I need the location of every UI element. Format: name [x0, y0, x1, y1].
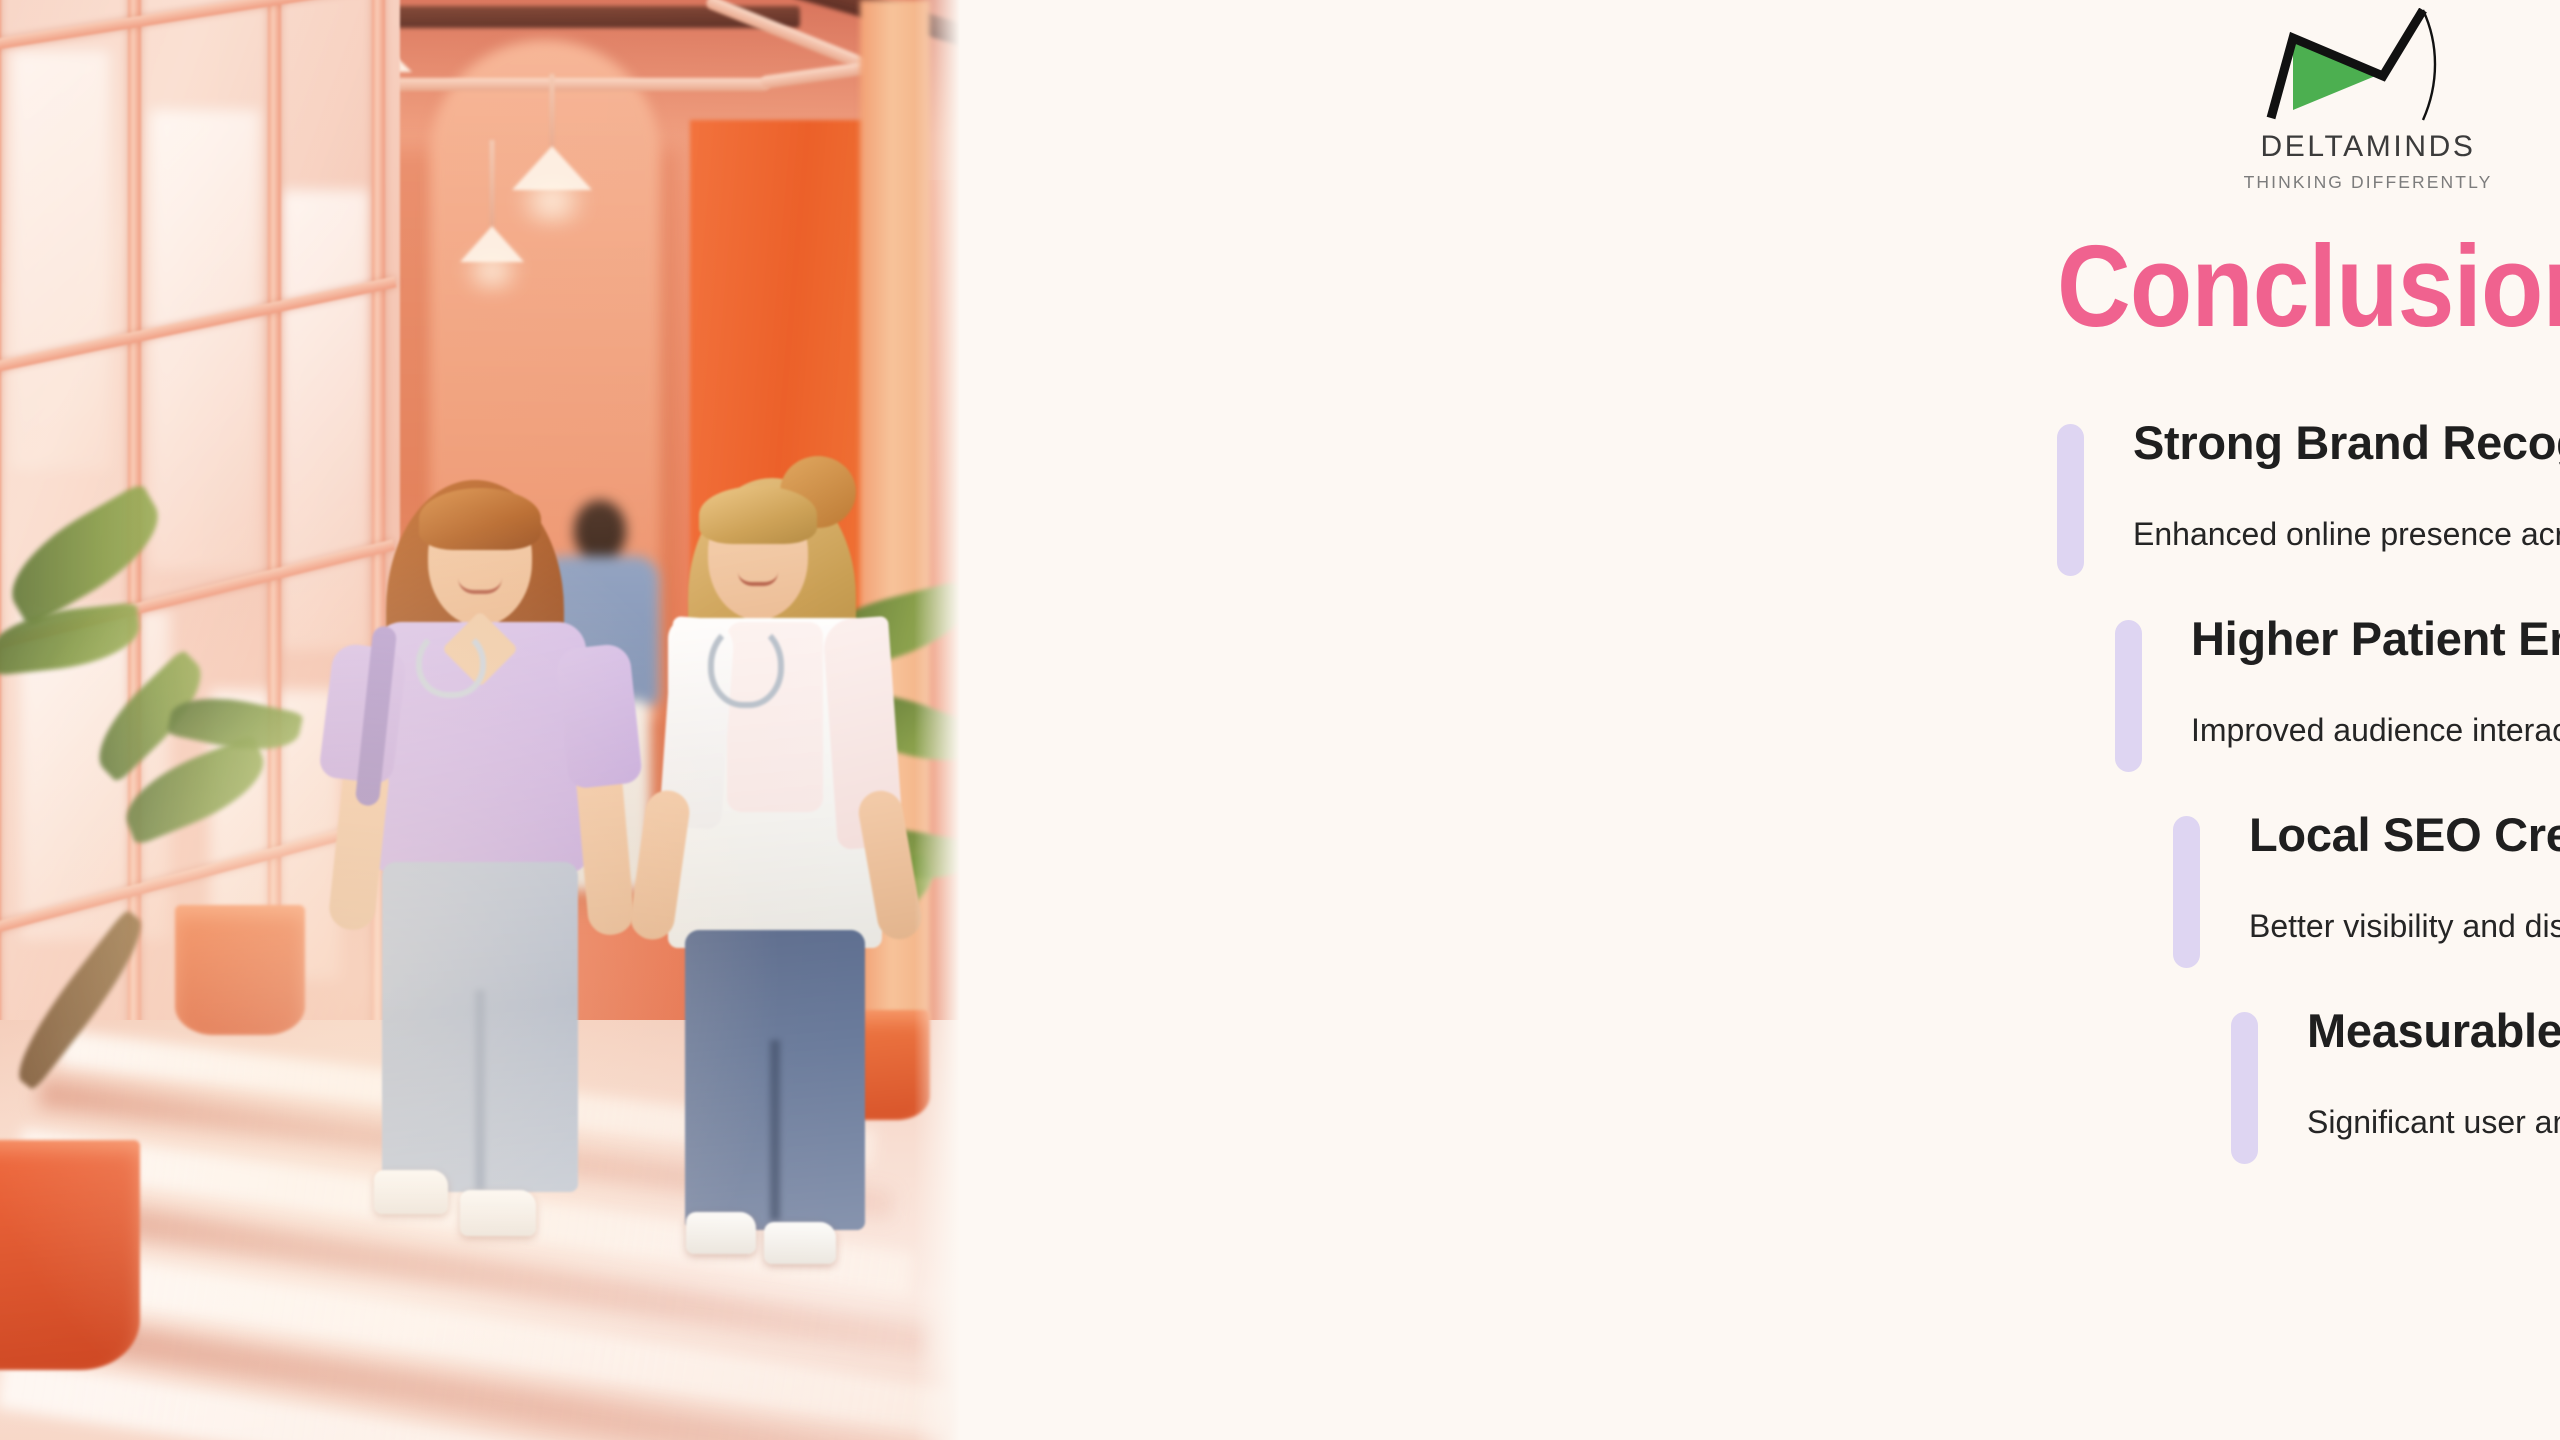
accent-bar-icon — [2115, 620, 2142, 772]
brand-logo[interactable]: DELTAMINDS THINKING DIFFERENTLY — [2218, 8, 2518, 223]
deltaminds-logo-icon — [2253, 8, 2483, 136]
list-item[interactable]: Strong Brand Recognition Enhanced online… — [960, 418, 2560, 576]
accent-bar-icon — [2173, 816, 2200, 968]
content-panel: DELTAMINDS THINKING DIFFERENTLY Conclusi… — [960, 0, 2560, 1440]
pendant-lamp — [460, 140, 524, 310]
logo-tagline: THINKING DIFFERENTLY — [2244, 174, 2493, 192]
list-item-description: Better visibility and discoverability fo… — [2249, 907, 2560, 945]
hair-front — [419, 488, 541, 550]
stethoscope — [708, 622, 784, 708]
accent-bar-icon — [2231, 1012, 2258, 1164]
person-doctor-whitecoat — [630, 460, 920, 1260]
list-item-description: Improved audience interaction and trust. — [2191, 711, 2560, 749]
slide-root: DELTAMINDS THINKING DIFFERENTLY Conclusi… — [0, 0, 2560, 1440]
list-item-description: Significant user and interaction increas… — [2307, 1103, 2560, 1141]
shoe-left — [374, 1170, 448, 1214]
list-item-text: Local SEO Credibility Better visibility … — [2249, 810, 2560, 946]
list-item-heading: Measurable Digital Growth — [2307, 1006, 2560, 1055]
list-item-heading: Higher Patient Engagement — [2191, 614, 2560, 663]
planter-pot — [175, 905, 305, 1035]
pendant-lamp — [512, 74, 592, 254]
list-item-heading: Strong Brand Recognition — [2133, 418, 2560, 467]
jeans-split — [770, 1040, 780, 1220]
list-item[interactable]: Higher Patient Engagement Improved audie… — [960, 614, 2560, 772]
logo-wordmark: DELTAMINDS — [2261, 132, 2476, 162]
list-item-description: Enhanced online presence across digital … — [2133, 515, 2560, 553]
hair-front — [699, 486, 817, 544]
list-item-text: Measurable Digital Growth Significant us… — [2307, 1006, 2560, 1142]
list-item-heading: Local SEO Credibility — [2249, 810, 2560, 859]
accent-bar-icon — [2057, 424, 2084, 576]
planter-pot — [0, 1140, 140, 1370]
impact-points-list: Strong Brand Recognition Enhanced online… — [960, 418, 2560, 1164]
photo-scene — [0, 0, 960, 1440]
list-item-text: Strong Brand Recognition Enhanced online… — [2133, 418, 2560, 554]
shoe-right — [764, 1222, 836, 1264]
list-item[interactable]: Local SEO Credibility Better visibility … — [960, 810, 2560, 968]
person-nurse-lavender — [330, 470, 630, 1260]
shoe-left — [686, 1212, 756, 1254]
shoe-right — [460, 1190, 536, 1236]
page-title: Conclusion & Impact — [2057, 228, 2560, 344]
stethoscope — [416, 628, 486, 698]
jeans-split — [475, 990, 485, 1190]
list-item[interactable]: Measurable Digital Growth Significant us… — [960, 1006, 2560, 1164]
list-item-text: Higher Patient Engagement Improved audie… — [2191, 614, 2560, 750]
hero-photo — [0, 0, 960, 1440]
